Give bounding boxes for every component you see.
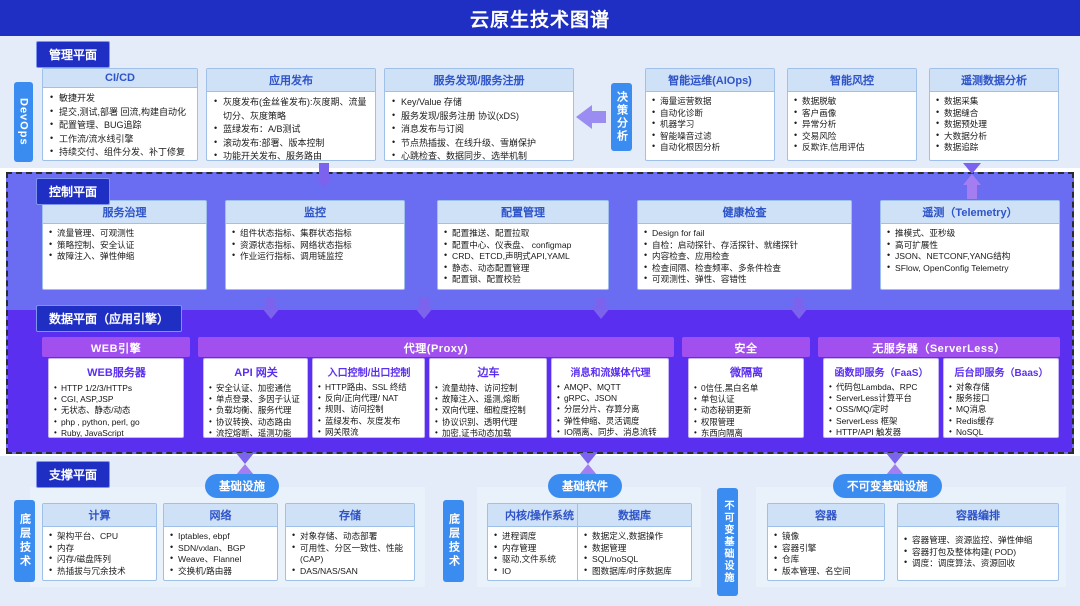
list-item: 调度：调度算法、资源回收: [904, 558, 1053, 570]
rail-underlying-tech: 底层技术: [14, 500, 35, 582]
group-serverless: 无服务器（ServerLess）: [818, 337, 1060, 357]
list-item: HTTP/API 触发器: [829, 427, 934, 438]
list-item: 流量劫持、访问控制: [435, 383, 542, 394]
list-item: 检查间隔、检查频率、多条件检查: [644, 263, 846, 275]
list-item: ServerLess计算平台: [829, 393, 934, 404]
list-item: SFlow, OpenConfig Telemetry: [887, 263, 1054, 275]
list-item: 反向/正向代理/ NAT: [318, 393, 420, 404]
list-item: 流控熔断、遥测功能: [209, 428, 303, 438]
list-item: php , python, perl, go: [54, 417, 179, 428]
list-item: CRD、ETCD,声明式API,YAML: [444, 251, 603, 263]
list-item: JSON、NETCONF,YANG结构: [887, 251, 1054, 263]
list-item: Key/Value 存储: [391, 96, 568, 110]
pill-infrastructure: 基础设施: [205, 474, 279, 498]
card-title: 网络: [164, 504, 277, 527]
list-item: 驱动,文件系统: [494, 554, 586, 566]
list-item: HTTP路由、SSL 终结: [318, 382, 420, 393]
list-item: Design for fail: [644, 228, 846, 240]
card-title: 消息和流媒体代理: [557, 362, 664, 382]
group-proxy: 代理(Proxy): [198, 337, 674, 357]
card-list: 数据定义,数据操作 数据管理 SQL/noSQL 图数据库/时序数据库: [584, 531, 686, 577]
rail-devops: DevOps: [14, 82, 33, 162]
list-item: 分层分片、存算分离: [557, 404, 664, 415]
page-title: 云原生技术图谱: [470, 5, 610, 32]
list-item: 故障注入、弹性伸缩: [49, 251, 201, 263]
list-item: 作业运行指标、调用链监控: [232, 251, 399, 263]
list-item: 内存: [49, 543, 151, 555]
list-item: 权限管理: [694, 417, 799, 428]
list-item: 数据定义,数据操作: [584, 531, 686, 543]
card-title: 函数即服务（FaaS）: [829, 362, 934, 382]
card-database: 数据库 数据定义,数据操作 数据管理 SQL/noSQL 图数据库/时序数据库: [577, 503, 692, 581]
card-telemetry-data-analysis: 遥测数据分析 数据采集 数据缝合 数据预处理 大数据分析 数据追踪: [929, 68, 1059, 161]
card-list: 对象存储、动态部署 可用性、分区一致性、性能(CAP) DAS/NAS/SAN: [292, 531, 409, 577]
card-api-gateway: API 网关 安全认证、加密通信 单点登录、多因子认证 负载均衡、服务代理 协议…: [203, 358, 308, 438]
card-title: WEB服务器: [54, 362, 179, 383]
list-item: 自动化根因分析: [652, 142, 769, 154]
list-item: 进程调度: [494, 531, 586, 543]
pill-immutable-infrastructure: 不可变基础设施: [833, 474, 942, 498]
card-health-check: 健康检查 Design for fail 自检：启动探针、存活探针、就绪探针 内…: [637, 200, 852, 290]
list-item: 滚动发布:部署、版本控制: [213, 137, 370, 151]
card-title: 存储: [286, 504, 414, 527]
list-item: MQ消息: [949, 404, 1054, 415]
list-item: 敏捷开发: [49, 92, 192, 106]
plane-tag-support: 支撑平面: [36, 461, 110, 488]
card-title: 应用发布: [207, 69, 375, 92]
card-title: 监控: [226, 201, 404, 224]
list-item: 组件状态指标、集群状态指标: [232, 228, 399, 240]
list-item: 仓库: [774, 554, 879, 566]
card-list: 对象存储 服务接口 MQ消息 Redis缓存 NoSQL: [949, 382, 1054, 438]
card-title: 边车: [435, 362, 542, 383]
card-title: 配置管理: [438, 201, 608, 224]
list-item: 安全认证、加密通信: [209, 383, 303, 394]
card-list: 架构平台、CPU 内存 闪存/磁盘阵列 热插拔与冗余技术: [49, 531, 151, 577]
card-intelligent-risk-control: 智能风控 数据脱敏 客户画像 异常分析 交易风险 反欺诈,信用评估: [787, 68, 917, 161]
cloud-native-tech-map: 云原生技术图谱 管理平面 DevOps CI/CD 敏捷开发 提交,测试,部署 …: [0, 0, 1080, 606]
card-monitoring: 监控 组件状态指标、集群状态指标 资源状态指标、网络状态指标 作业运行指标、调用…: [225, 200, 405, 290]
card-title: CI/CD: [43, 69, 197, 88]
card-app-release: 应用发布 灰度发布(金丝雀发布):灰度期、流量切分、灰度策略 蓝绿发布：A/B测…: [206, 68, 376, 161]
list-item: 数据缝合: [936, 108, 1053, 120]
list-item: 热插拔与冗余技术: [49, 566, 151, 578]
plane-tag-data: 数据平面（应用引擎）: [36, 305, 182, 332]
list-item: 自动化诊断: [652, 108, 769, 120]
plane-tag-control: 控制平面: [36, 178, 110, 205]
list-item: CGI, ASP,JSP: [54, 394, 179, 405]
card-message-stream-proxy: 消息和流媒体代理 AMQP、MQTT gRPC、JSON 分层分片、存算分离 弹…: [551, 358, 669, 438]
list-item: 网关限流: [318, 427, 420, 438]
page-header: 云原生技术图谱: [0, 0, 1080, 36]
card-title: 微隔离: [694, 362, 799, 383]
list-item: 内容检查、应用检查: [644, 251, 846, 263]
plane-tag-management: 管理平面: [36, 41, 110, 68]
card-web-server: WEB服务器 HTTP 1/2/3/HTTPs CGI, ASP,JSP 无状态…: [48, 358, 184, 438]
list-item: 高可扩展性: [887, 240, 1054, 252]
card-network: 网络 Iptables, ebpf SDN/vxlan、BGP Weave、Fl…: [163, 503, 278, 581]
list-item: 代码包Lambda、RPC: [829, 382, 934, 393]
list-item: 功能开关发布、服务路由: [213, 150, 370, 161]
card-list: 数据脱敏 客户画像 异常分析 交易风险 反欺诈,信用评估: [794, 96, 911, 154]
card-title: 智能风控: [788, 69, 916, 92]
card-title: 数据库: [578, 504, 691, 527]
group-title: 安全: [682, 337, 810, 359]
card-title: 容器编排: [898, 504, 1058, 527]
card-list: 数据采集 数据缝合 数据预处理 大数据分析 数据追踪: [936, 96, 1053, 154]
arrow-down-to-control: [315, 163, 333, 188]
list-item: OSS/MQ/定时: [829, 404, 934, 415]
list-item: 客户画像: [794, 108, 911, 120]
arrow-down-to-data-4: [790, 298, 808, 319]
list-item: 心跳检查、数据同步、选举机制: [391, 150, 568, 161]
list-item: 图数据库/时序数据库: [584, 566, 686, 578]
card-list: 0信任,黑白名单 单包认证 动态秘钥更新 权限管理 东西向隔离: [694, 383, 799, 438]
list-item: 灰度发布(金丝雀发布):灰度期、流量切分、灰度策略: [213, 96, 370, 123]
pill-base-software: 基础软件: [548, 474, 622, 498]
list-item: DAS/NAS/SAN: [292, 566, 409, 578]
card-config-management: 配置管理 配置推送、配置拉取 配置中心、仪表盘、 configmap CRD、E…: [437, 200, 609, 290]
card-title: 内核/操作系统: [488, 504, 591, 527]
card-compute: 计算 架构平台、CPU 内存 闪存/磁盘阵列 热插拔与冗余技术: [42, 503, 157, 581]
list-item: 镜像: [774, 531, 879, 543]
list-item: gRPC、JSON: [557, 393, 664, 404]
list-item: 内存管理: [494, 543, 586, 555]
card-title: 后台即服务（Baas）: [949, 362, 1054, 382]
card-list: Key/Value 存储 服务发现/服务注册 协议(xDS) 消息发布与订阅 节…: [391, 96, 568, 161]
list-item: 提交,测试,部署 回流,构建自动化: [49, 106, 192, 120]
list-item: NoSQL: [949, 427, 1054, 438]
group-web-engine: WEB引擎: [42, 337, 190, 357]
list-item: Redis缓存: [949, 416, 1054, 427]
list-item: 单包认证: [694, 394, 799, 405]
list-item: 架构平台、CPU: [49, 531, 151, 543]
list-item: 节点热插拔、在线升级、雪崩保护: [391, 137, 568, 151]
list-item: 负载均衡、服务代理: [209, 405, 303, 416]
list-item: SDN/vxlan、BGP: [170, 543, 272, 555]
list-item: 资源状态指标、网络状态指标: [232, 240, 399, 252]
list-item: 0信任,黑白名单: [694, 383, 799, 394]
card-list: 安全认证、加密通信 单点登录、多因子认证 负载均衡、服务代理 协议转换、动态路由…: [209, 383, 303, 438]
list-item: 配置中心、仪表盘、 configmap: [444, 240, 603, 252]
card-title: 计算: [43, 504, 156, 527]
list-item: Weave、Flannel: [170, 554, 272, 566]
list-item: 持续交付、组件分发、补丁修复: [49, 146, 192, 160]
list-item: 双向代理、细粒度控制: [435, 405, 542, 416]
list-item: 策略控制、安全认证: [49, 240, 201, 252]
list-item: 容器管理、资源监控、弹性伸缩: [904, 535, 1053, 547]
list-item: 消息发布与订阅: [391, 123, 568, 137]
rail-underlying-tech-2: 底层技术: [443, 500, 464, 582]
list-item: 静态、动态配置管理: [444, 263, 603, 275]
card-list: 灰度发布(金丝雀发布):灰度期、流量切分、灰度策略 蓝绿发布：A/B测试 滚动发…: [213, 96, 370, 161]
list-item: ServerLess 框架: [829, 416, 934, 427]
arrow-down-to-data-2: [415, 298, 433, 319]
list-item: 蓝绿发布、灰度发布: [318, 416, 420, 427]
card-title: 遥测数据分析: [930, 69, 1058, 92]
list-item: 无状态、静态/动态: [54, 405, 179, 416]
list-item: IO: [494, 566, 586, 578]
card-micro-segmentation: 微隔离 0信任,黑白名单 单包认证 动态秘钥更新 权限管理 东西向隔离: [688, 358, 804, 438]
card-storage: 存储 对象存储、动态部署 可用性、分区一致性、性能(CAP) DAS/NAS/S…: [285, 503, 415, 581]
list-item: 异常分析: [794, 119, 911, 131]
list-item: 配置推送、配置拉取: [444, 228, 603, 240]
list-item: 对象存储、动态部署: [292, 531, 409, 543]
list-item: 服务发现/服务注册 协议(xDS): [391, 110, 568, 124]
card-faas: 函数即服务（FaaS） 代码包Lambda、RPC ServerLess计算平台…: [823, 358, 939, 438]
card-ingress-egress-control: 入口控制/出口控制 HTTP路由、SSL 终结 反向/正向代理/ NAT 规则、…: [312, 358, 425, 438]
list-item: 蓝绿发布：A/B测试: [213, 123, 370, 137]
list-item: 配置管理、BUG追踪: [49, 119, 192, 133]
group-security: 安全: [682, 337, 810, 357]
list-item: 规则、访问控制: [318, 404, 420, 415]
list-item: 可观测性、弹性、容错性: [644, 274, 846, 286]
list-item: SQL/noSQL: [584, 554, 686, 566]
list-item: Ruby, JavaScript: [54, 428, 179, 438]
card-service-governance: 服务治理 流量管理、可观测性 策略控制、安全认证 故障注入、弹性伸缩: [42, 200, 207, 290]
list-item: 智能噪音过滤: [652, 131, 769, 143]
card-list: HTTP 1/2/3/HTTPs CGI, ASP,JSP 无状态、静态/动态 …: [54, 383, 179, 438]
card-sidecar: 边车 流量劫持、访问控制 故障注入、遥测,熔断 双向代理、细粒度控制 协议识别、…: [429, 358, 547, 438]
card-title: API 网关: [209, 362, 303, 383]
list-item: 机器学习: [652, 119, 769, 131]
list-item: 对象存储: [949, 382, 1054, 393]
card-list: AMQP、MQTT gRPC、JSON 分层分片、存算分离 弹性伸缩、灵活调度 …: [557, 382, 664, 438]
group-title: 代理(Proxy): [198, 337, 674, 359]
list-item: 数据追踪: [936, 142, 1053, 154]
card-list: 配置推送、配置拉取 配置中心、仪表盘、 configmap CRD、ETCD,声…: [444, 228, 603, 286]
card-title: 容器: [768, 504, 884, 527]
card-baas: 后台即服务（Baas） 对象存储 服务接口 MQ消息 Redis缓存 NoSQL: [943, 358, 1059, 438]
card-title: 健康检查: [638, 201, 851, 224]
list-item: 单点登录、多因子认证: [209, 394, 303, 405]
list-item: 反欺诈,信用评估: [794, 142, 911, 154]
list-item: 数据管理: [584, 543, 686, 555]
card-title: 遥测（Telemetry）: [881, 201, 1059, 224]
card-list: 海量运营数据 自动化诊断 机器学习 智能噪音过滤 自动化根因分析: [652, 96, 769, 154]
list-item: 故障注入、遥测,熔断: [435, 394, 542, 405]
card-list: 流量劫持、访问控制 故障注入、遥测,熔断 双向代理、细粒度控制 协议识别、透明代…: [435, 383, 542, 438]
card-container: 容器 镜像 容器引擎 仓库 版本管理、名空间: [767, 503, 885, 581]
list-item: 协议转换、动态路由: [209, 417, 303, 428]
card-telemetry: 遥测（Telemetry） 推模式、亚秒级 高可扩展性 JSON、NETCONF…: [880, 200, 1060, 290]
card-list: 敏捷开发 提交,测试,部署 回流,构建自动化 配置管理、BUG追踪 工作流/流水…: [49, 92, 192, 160]
list-item: 闪存/磁盘阵列: [49, 554, 151, 566]
list-item: 数据采集: [936, 96, 1053, 108]
card-list: Iptables, ebpf SDN/vxlan、BGP Weave、Flann…: [170, 531, 272, 577]
rail-immutable-infra: 不可变基础设施: [717, 488, 738, 596]
card-list: Design for fail 自检：启动探针、存活探针、就绪探针 内容检查、应…: [644, 228, 846, 286]
list-item: 加密,证书动态加载: [435, 428, 542, 438]
list-item: 容器引擎: [774, 543, 879, 555]
list-item: 流量管理、可观测性: [49, 228, 201, 240]
card-aiops: 智能运维(AIOps) 海量运营数据 自动化诊断 机器学习 智能噪音过滤 自动化…: [645, 68, 775, 161]
list-item: 工作流/流水线引擎: [49, 133, 192, 147]
list-item: 交换机/路由器: [170, 566, 272, 578]
arrow-up-to-management: [963, 163, 981, 199]
arrow-down-to-data-1: [262, 298, 280, 319]
list-item: 数据脱敏: [794, 96, 911, 108]
card-title: 服务发现/服务注册: [385, 69, 573, 92]
list-item: HTTP 1/2/3/HTTPs: [54, 383, 179, 394]
card-title: 入口控制/出口控制: [318, 362, 420, 382]
card-service-discovery: 服务发现/服务注册 Key/Value 存储 服务发现/服务注册 协议(xDS)…: [384, 68, 574, 161]
card-cicd: CI/CD 敏捷开发 提交,测试,部署 回流,构建自动化 配置管理、BUG追踪 …: [42, 68, 198, 161]
list-item: 弹性伸缩、灵活调度: [557, 416, 664, 427]
list-item: 交易风险: [794, 131, 911, 143]
list-item: 东西向隔离: [694, 428, 799, 438]
group-title: 无服务器（ServerLess）: [818, 337, 1060, 359]
list-item: 协议识别、透明代理: [435, 417, 542, 428]
list-item: 服务接口: [949, 393, 1054, 404]
list-item: 大数据分析: [936, 131, 1053, 143]
list-item: 容器打包及整体构建( POD): [904, 547, 1053, 559]
list-item: 自检：启动探针、存活探针、就绪探针: [644, 240, 846, 252]
group-title: WEB引擎: [42, 337, 190, 359]
list-item: 版本管理、名空间: [774, 566, 879, 578]
card-container-orchestration: 容器编排 容器管理、资源监控、弹性伸缩 容器打包及整体构建( POD) 调度：调…: [897, 503, 1059, 581]
card-list: 流量管理、可观测性 策略控制、安全认证 故障注入、弹性伸缩: [49, 228, 201, 263]
card-list: 组件状态指标、集群状态指标 资源状态指标、网络状态指标 作业运行指标、调用链监控: [232, 228, 399, 263]
card-list: 推模式、亚秒级 高可扩展性 JSON、NETCONF,YANG结构 SFlow,…: [887, 228, 1054, 274]
rail-decision-analysis: 决策分析: [611, 83, 632, 151]
list-item: 动态秘钥更新: [694, 405, 799, 416]
card-list: 进程调度 内存管理 驱动,文件系统 IO: [494, 531, 586, 577]
card-list: 镜像 容器引擎 仓库 版本管理、名空间: [774, 531, 879, 577]
arrow-down-to-data-3: [592, 298, 610, 319]
list-item: 可用性、分区一致性、性能(CAP): [292, 543, 409, 566]
list-item: 配置锁、配置校验: [444, 274, 603, 286]
list-item: 推模式、亚秒级: [887, 228, 1054, 240]
list-item: 数据预处理: [936, 119, 1053, 131]
list-item: Iptables, ebpf: [170, 531, 272, 543]
list-item: AMQP、MQTT: [557, 382, 664, 393]
list-item: IO隔离、同步、消息流转: [557, 427, 664, 438]
card-title: 智能运维(AIOps): [646, 69, 774, 92]
card-list: 容器管理、资源监控、弹性伸缩 容器打包及整体构建( POD) 调度：调度算法、资…: [904, 535, 1053, 570]
card-list: HTTP路由、SSL 终结 反向/正向代理/ NAT 规则、访问控制 蓝绿发布、…: [318, 382, 420, 438]
card-list: 代码包Lambda、RPC ServerLess计算平台 OSS/MQ/定时 S…: [829, 382, 934, 438]
list-item: 海量运营数据: [652, 96, 769, 108]
